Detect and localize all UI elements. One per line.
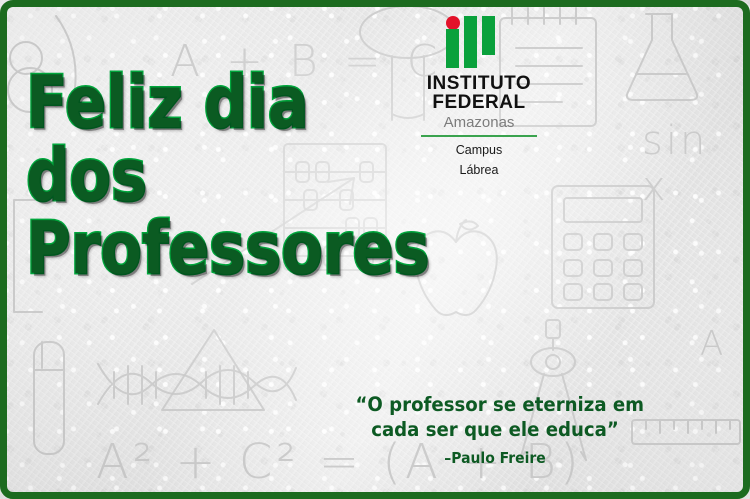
if-logo-square xyxy=(464,55,477,68)
quote-block: “O professor se eterniza em cada ser que… xyxy=(345,393,645,467)
if-logo-square xyxy=(464,42,477,55)
if-logo-square xyxy=(464,29,477,42)
if-logo-square xyxy=(446,42,459,55)
if-logo-square xyxy=(482,29,495,42)
quote-line-1: “O professor se eterniza em xyxy=(356,393,635,418)
headline-line-1: Feliz dia xyxy=(26,68,379,137)
if-logo-square xyxy=(464,16,477,29)
if-logo-square xyxy=(446,29,459,42)
headline-line-2: dos xyxy=(26,141,379,210)
if-logo-square xyxy=(482,16,495,29)
poster-canvas: A + B = C sin x A² + C² = (A + B) A INST… xyxy=(0,0,750,499)
quote-line-2: cada ser que ele educa” xyxy=(356,418,635,443)
quote-author: –Paulo Freire xyxy=(356,449,635,467)
headline-block: Feliz dia dos Professores xyxy=(26,68,446,287)
if-logo-mark xyxy=(446,16,512,68)
if-logo-square xyxy=(446,55,459,68)
headline-line-3: Professores xyxy=(26,214,379,283)
if-logo-square xyxy=(482,42,495,55)
if-logo-red-dot xyxy=(446,16,460,30)
